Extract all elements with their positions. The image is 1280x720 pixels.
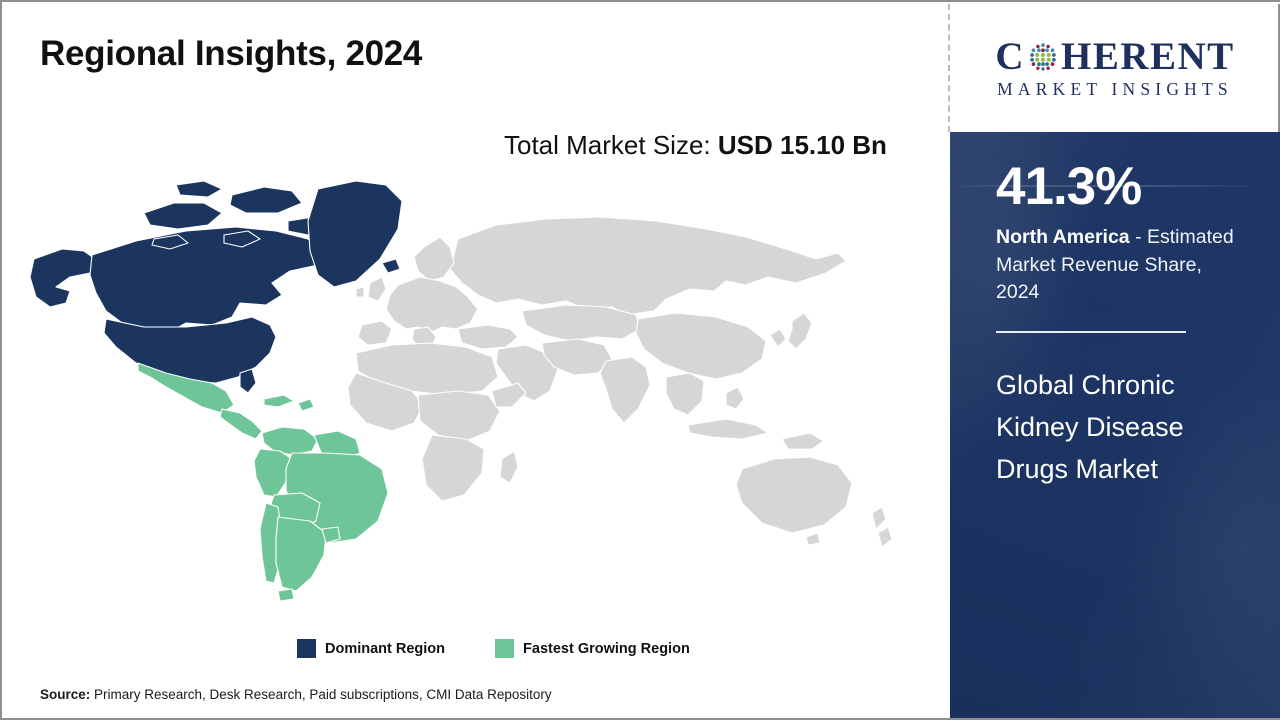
world-map-svg — [26, 177, 926, 627]
info-panel: 41.3% North America - Estimated Market R… — [950, 132, 1280, 720]
market-size-label: Total Market Size: — [504, 130, 718, 160]
slide-canvas: Regional Insights, 2024 Total Market Siz… — [0, 0, 1280, 720]
market-name: Global Chronic Kidney Disease Drugs Mark… — [996, 365, 1236, 491]
logo-word-right: HERENT — [1061, 37, 1235, 76]
legend-item-fastest-growing: Fastest Growing Region — [495, 639, 690, 658]
dotted-globe-icon — [1026, 39, 1060, 73]
source-note: Source: Primary Research, Desk Research,… — [40, 687, 552, 702]
panel-divider-rule — [996, 331, 1186, 333]
map-region-other — [348, 217, 892, 547]
market-size-value: USD 15.10 Bn — [718, 130, 887, 160]
stat-region-name: North America — [996, 226, 1130, 248]
source-label: Source: — [40, 687, 94, 702]
logo-word-left: C — [995, 37, 1025, 76]
legend-label-fastest-growing: Fastest Growing Region — [523, 641, 690, 657]
brand-logo: C — [952, 4, 1280, 132]
vertical-dashed-divider — [948, 4, 950, 132]
legend-label-dominant: Dominant Region — [325, 641, 445, 657]
page-title: Regional Insights, 2024 — [40, 34, 422, 74]
legend-swatch-fastest-growing — [495, 639, 514, 658]
source-text: Primary Research, Desk Research, Paid su… — [94, 687, 552, 702]
stat-caption: North America - Estimated Market Revenue… — [996, 224, 1248, 307]
dotted-globe-svg — [1026, 39, 1060, 73]
logo-wordmark: C — [952, 37, 1278, 76]
legend-swatch-dominant — [297, 639, 316, 658]
stat-value: 41.3% — [996, 160, 1248, 213]
total-market-size: Total Market Size: USD 15.10 Bn — [504, 127, 912, 165]
world-map — [26, 177, 926, 627]
map-region-north-america — [30, 181, 402, 393]
map-legend: Dominant Region Fastest Growing Region — [297, 639, 690, 658]
logo-subtitle: MARKET INSIGHTS — [952, 79, 1278, 100]
legend-item-dominant: Dominant Region — [297, 639, 445, 658]
